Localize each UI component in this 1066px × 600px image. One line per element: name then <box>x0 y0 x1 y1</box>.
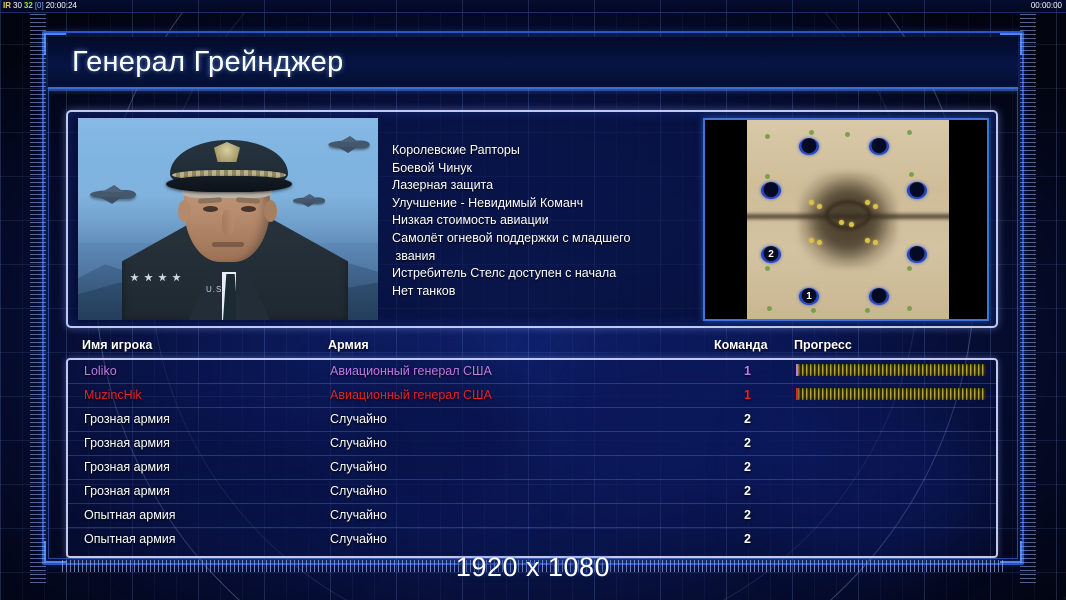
aircraft-icon <box>293 197 325 203</box>
network-tag: IR <box>2 1 12 10</box>
map-start-position[interactable] <box>907 246 927 263</box>
player-army: Авиационный генерал США <box>330 364 492 378</box>
ability-item: Улучшение - Невидимый Команч <box>392 195 692 213</box>
general-mouth <box>212 242 244 247</box>
player-team: 1 <box>744 388 751 402</box>
player-army: Случайно <box>330 532 387 546</box>
map-tree-icon <box>765 266 770 271</box>
network-value2: 32 <box>23 1 34 10</box>
table-row[interactable]: Опытная армияСлучайно2 <box>68 528 996 552</box>
ability-item: Истребитель Стелс доступен с начала <box>392 265 692 283</box>
rank-stars <box>130 273 181 282</box>
star-icon <box>130 273 139 282</box>
aircraft-icon <box>328 140 369 148</box>
map-tree-icon <box>809 130 814 135</box>
player-army: Случайно <box>330 436 387 450</box>
elapsed-clock: 00:00:00 <box>1031 1 1062 11</box>
player-name: MuzincHik <box>84 388 142 402</box>
map-start-position[interactable]: 2 <box>761 246 781 263</box>
player-team: 2 <box>744 484 751 498</box>
map-preview[interactable]: 21 <box>703 118 989 321</box>
general-info-panel: U.S. Королевские Рапторы Боевой Чинук Ла… <box>66 110 998 328</box>
player-name: Грозная армия <box>84 436 170 450</box>
map-tree-icon <box>845 132 850 137</box>
map-tree-icon <box>767 306 772 311</box>
table-row[interactable]: Грозная армияСлучайно2 <box>68 432 996 456</box>
map-tree-icon <box>907 306 912 311</box>
column-header-team: Команда <box>714 338 768 352</box>
general-abilities-list: Королевские Рапторы Боевой Чинук Лазерна… <box>392 142 692 300</box>
player-team: 2 <box>744 532 751 546</box>
table-row[interactable]: Грозная армияСлучайно2 <box>68 456 996 480</box>
player-army: Случайно <box>330 484 387 498</box>
map-resource-icon <box>817 204 822 209</box>
ability-item: Боевой Чинук <box>392 160 692 178</box>
player-team: 1 <box>744 364 751 378</box>
general-ear-left <box>178 200 191 222</box>
ability-item: Самолёт огневой поддержки с младшего <box>392 230 692 248</box>
map-start-position[interactable] <box>869 288 889 305</box>
top-status-grid <box>0 0 1066 12</box>
player-army: Случайно <box>330 460 387 474</box>
ruler-left <box>30 14 46 586</box>
player-name: Опытная армия <box>84 508 176 522</box>
player-army: Авиационный генерал США <box>330 388 492 402</box>
map-resource-icon <box>809 200 814 205</box>
table-row[interactable]: Опытная армияСлучайно2 <box>68 504 996 528</box>
player-team: 2 <box>744 460 751 474</box>
general-portrait: U.S. <box>78 118 378 320</box>
progress-bar <box>796 388 986 400</box>
player-progress <box>796 364 986 376</box>
page-title: Генерал Грейнджер <box>72 44 344 80</box>
aircraft-icon <box>90 190 136 199</box>
player-progress <box>796 388 986 400</box>
player-name: Грозная армия <box>84 484 170 498</box>
ability-item: Низкая стоимость авиации <box>392 212 692 230</box>
column-header-player: Имя игрока <box>82 338 152 352</box>
map-center-feature <box>825 200 871 230</box>
us-insignia: U.S. <box>206 285 226 294</box>
map-resource-icon <box>817 240 822 245</box>
player-list-header: Имя игрока Армия Команда Прогресс <box>66 336 998 356</box>
map-resource-icon <box>839 220 844 225</box>
player-army: Случайно <box>330 508 387 522</box>
network-value1: 30 <box>12 1 23 10</box>
player-army: Случайно <box>330 412 387 426</box>
general-ear-right <box>264 200 277 222</box>
map-resource-icon <box>873 240 878 245</box>
map-start-position[interactable]: 1 <box>799 288 819 305</box>
map-resource-icon <box>809 238 814 243</box>
map-start-position[interactable] <box>869 138 889 155</box>
map-resource-icon <box>865 200 870 205</box>
session-clock: 20:00:24 <box>45 1 78 10</box>
column-header-progress: Прогресс <box>794 338 852 352</box>
map-tree-icon <box>907 266 912 271</box>
top-status-bar: IR3032[0]20:00:24 00:00:00 <box>0 0 1066 13</box>
map-resource-icon <box>873 204 878 209</box>
player-name: Грозная армия <box>84 412 170 426</box>
network-value3: [0] <box>34 1 45 10</box>
map-resource-icon <box>865 238 870 243</box>
column-header-army: Армия <box>328 338 369 352</box>
ability-item: Нет танков <box>392 283 692 301</box>
player-name: Loliko <box>84 364 117 378</box>
table-row[interactable]: Грозная армияСлучайно2 <box>68 480 996 504</box>
player-team: 2 <box>744 436 751 450</box>
lobby-screen: IR3032[0]20:00:24 00:00:00 Генерал Грейн… <box>0 0 1066 600</box>
star-icon <box>158 273 167 282</box>
player-name: Грозная армия <box>84 460 170 474</box>
map-tree-icon <box>907 130 912 135</box>
network-stats: IR3032[0]20:00:24 <box>2 1 78 11</box>
map-resource-icon <box>849 222 854 227</box>
ability-item: Королевские Рапторы <box>392 142 692 160</box>
ability-item: Лазерная защита <box>392 177 692 195</box>
general-nose <box>222 210 234 236</box>
star-icon <box>172 273 181 282</box>
map-start-position[interactable] <box>907 182 927 199</box>
map-start-position[interactable] <box>761 182 781 199</box>
ruler-right <box>1020 14 1036 586</box>
map-tree-icon <box>865 308 870 313</box>
map-tree-icon <box>909 172 914 177</box>
table-row[interactable]: Грозная армияСлучайно2 <box>68 408 996 432</box>
map-terrain: 21 <box>747 120 949 319</box>
map-tree-icon <box>811 308 816 313</box>
map-tree-icon <box>765 174 770 179</box>
ability-item: звания <box>392 248 692 266</box>
table-row[interactable]: LolikoАвиационный генерал США1 <box>68 360 996 384</box>
cap-visor <box>166 176 292 192</box>
table-row[interactable]: MuzincHikАвиационный генерал США1 <box>68 384 996 408</box>
player-name: Опытная армия <box>84 532 176 546</box>
general-eye-right <box>241 206 256 212</box>
star-icon <box>144 273 153 282</box>
player-team: 2 <box>744 508 751 522</box>
map-start-position[interactable] <box>799 138 819 155</box>
player-list: Имя игрока Армия Команда Прогресс Loliko… <box>66 336 998 558</box>
player-team: 2 <box>744 412 751 426</box>
resolution-watermark: 1920 x 1080 <box>0 550 1066 584</box>
general-eye-left <box>203 206 218 212</box>
player-rows-container: LolikoАвиационный генерал США1MuzincHikА… <box>66 358 998 558</box>
progress-bar <box>796 364 986 376</box>
map-tree-icon <box>765 134 770 139</box>
